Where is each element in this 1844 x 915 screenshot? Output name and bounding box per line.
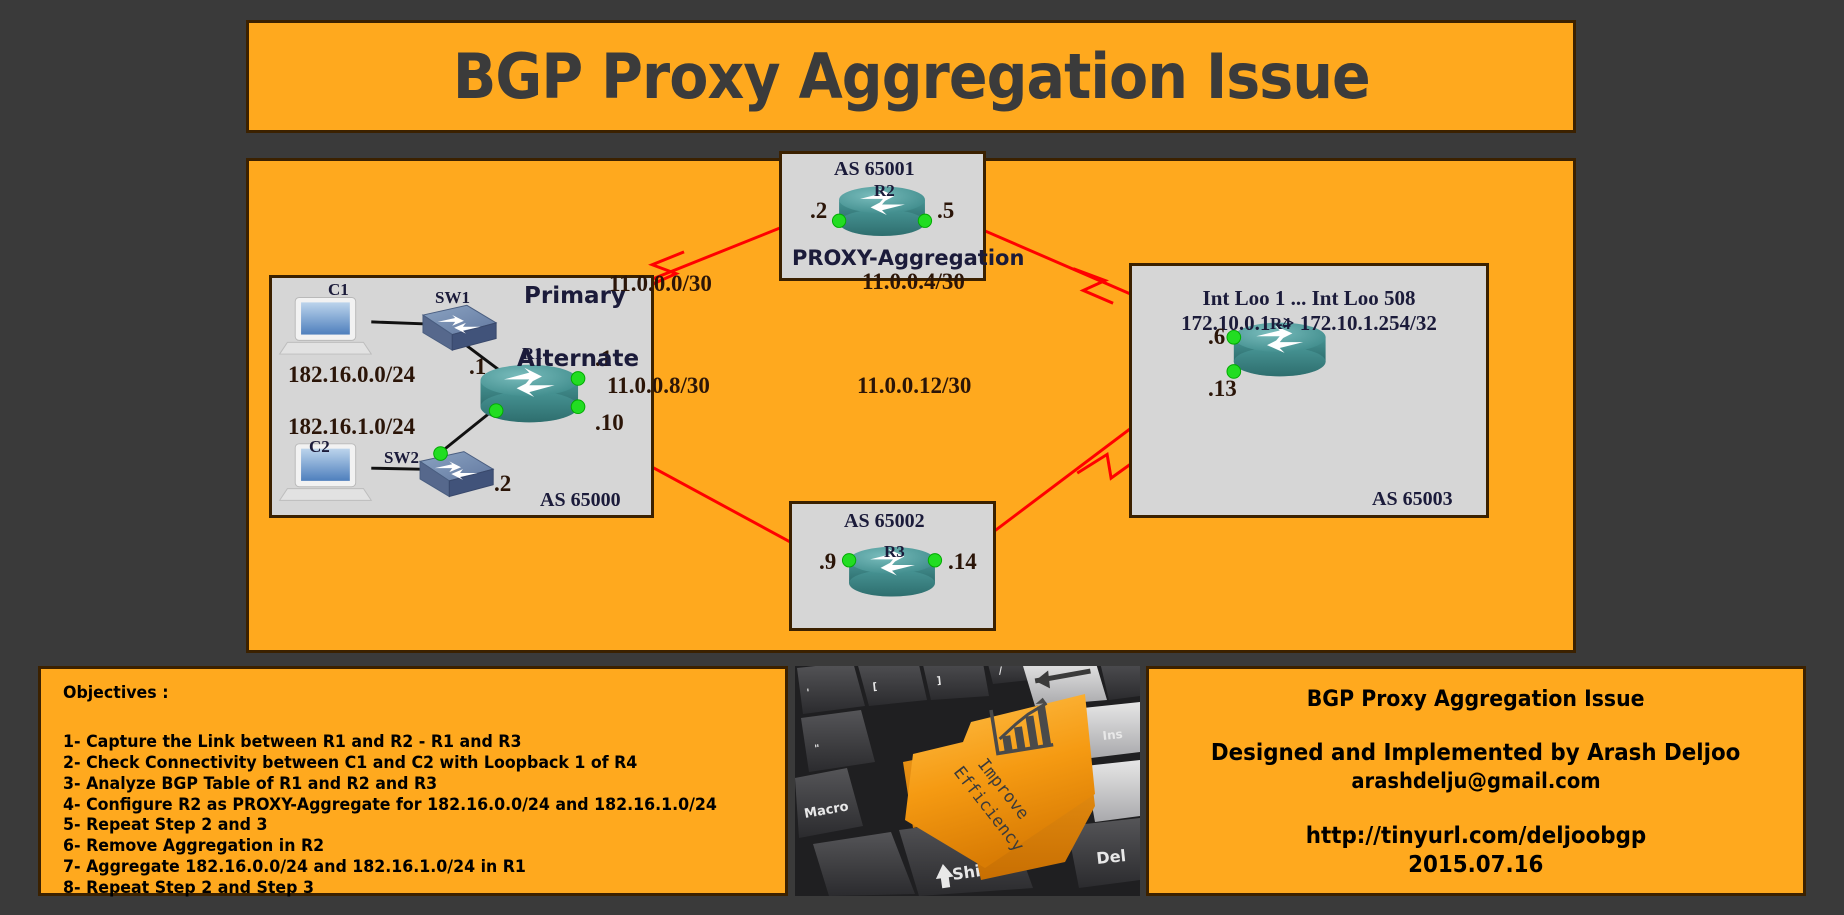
keyboard-graphic: ' [ ] / " Macro Ins Del Shift [795,666,1140,896]
improve-efficiency-keyboard-image: ' [ ] / " Macro Ins Del Shift [795,666,1140,896]
page-title: BGP Proxy Aggregation Issue [453,40,1370,113]
if-label-r3-right: .14 [948,549,977,575]
lan-link-c2-sw2 [371,468,420,469]
if-dot-r1-primary [571,372,585,386]
as-65000-graphics [272,278,651,515]
objective-item: 3- Analyze BGP Table of R1 and R2 and R3 [63,776,725,794]
link-label-r1-r3: 11.0.0.8/30 [607,373,710,399]
router-r2-label: R2 [874,181,895,201]
link-label-r3-r4: 11.0.0.12/30 [857,373,971,399]
switch-sw1-icon [423,305,496,350]
host-c1-icon [280,298,372,355]
as-65003-label: AS 65003 [1372,488,1453,511]
switch-sw2-label: SW2 [384,448,419,468]
if-label-r1-alternate: .10 [595,410,624,436]
switch-sw2-icon [420,452,493,497]
key-label-del: Del [1095,846,1126,868]
objective-item: 4- Configure R2 as PROXY-Aggregate for 1… [63,797,725,815]
objective-item: 7- Aggregate 182.16.0.0/24 and 182.16.1.… [63,859,725,877]
alternate-path-label: Alternate [517,346,639,372]
author-url[interactable]: http://tinyurl.com/deljoobgp [1306,823,1646,849]
if-label-r2-left: .2 [810,198,827,224]
if-dot-r3-left [842,554,855,567]
objectives-heading: Objectives : [63,683,169,703]
if-dot-r2-left [832,214,845,227]
if-dot-r2-right [918,214,931,227]
if-dot-r1-lan2 [489,404,503,418]
objective-item: 2- Check Connectivity between C1 and C2 … [63,755,725,773]
host-c2-label: C2 [309,437,330,457]
topology-panel: C1 SW1 R1 .1 .1 .10 182.16.0.0/24 182.16… [246,158,1576,653]
key-label-ins: Ins [1102,727,1124,743]
title-banner: BGP Proxy Aggregation Issue [246,20,1576,133]
as-65000-label: AS 65000 [540,489,621,512]
if-label-r1-lan: .1 [469,354,486,380]
if-dot-r3-right [928,554,941,567]
router-r3-label: R3 [884,542,905,562]
if-dot-sw2-uplink [434,447,448,461]
as-65002-box: AS 65002 R3 .9 .14 [789,501,996,631]
objective-item: 5- Repeat Step 2 and 3 [63,817,725,835]
subnet-label-c1: 182.16.0.0/24 [288,362,415,388]
switch-sw1-label: SW1 [435,288,470,308]
objectives-list: 1- Capture the Link between R1 and R2 - … [63,734,775,901]
objective-item: 1- Capture the Link between R1 and R2 - … [63,734,725,752]
if-label-r3-left: .9 [819,549,836,575]
router-r4-label: R4 [1270,314,1291,334]
loopback-range-line2: 172.10.0.1 -> 172.10.1.254/32 [1132,311,1486,336]
objective-item: 8- Repeat Step 2 and Step 3 [63,880,725,898]
if-label-r2-right: .5 [937,198,954,224]
objectives-panel: Objectives : 1- Capture the Link between… [38,666,788,896]
author-panel: BGP Proxy Aggregation Issue Designed and… [1146,666,1806,896]
author-email: arashdelju@gmail.com [1351,769,1600,793]
lan-link-c1-sw1 [371,322,423,324]
as-65002-label: AS 65002 [844,510,925,533]
if-label-r4-bottom: .13 [1208,376,1237,402]
if-dot-r1-alternate [571,400,585,414]
as-65001-label: AS 65001 [834,158,915,181]
link-label-r2-r4: 11.0.0.4/30 [862,269,965,295]
as-65000-box: C1 SW1 R1 .1 .1 .10 182.16.0.0/24 182.16… [269,275,654,518]
loopback-range-line1: Int Loo 1 ... Int Loo 508 [1132,286,1486,311]
subnet-label-c2: 182.16.1.0/24 [288,414,415,440]
author-doc-title: BGP Proxy Aggregation Issue [1307,687,1645,712]
link-label-r1-r2: 11.0.0.0/30 [609,271,712,297]
objective-item: 6- Remove Aggregation in R2 [63,838,725,856]
author-date: 2015.07.16 [1408,852,1543,878]
if-label-r4-top: .6 [1208,324,1225,350]
if-label-r1-sw2: .2 [494,471,511,497]
as-65003-box: Int Loo 1 ... Int Loo 508 172.10.0.1 -> … [1129,263,1489,518]
proxy-aggregation-note: PROXY-Aggregation [792,246,1024,270]
host-c1-label: C1 [328,280,349,300]
author-designer: Designed and Implemented by Arash Deljoo [1211,740,1740,766]
as-65001-box: AS 65001 R2 .2 .5 PROXY-Aggregation [779,151,986,281]
